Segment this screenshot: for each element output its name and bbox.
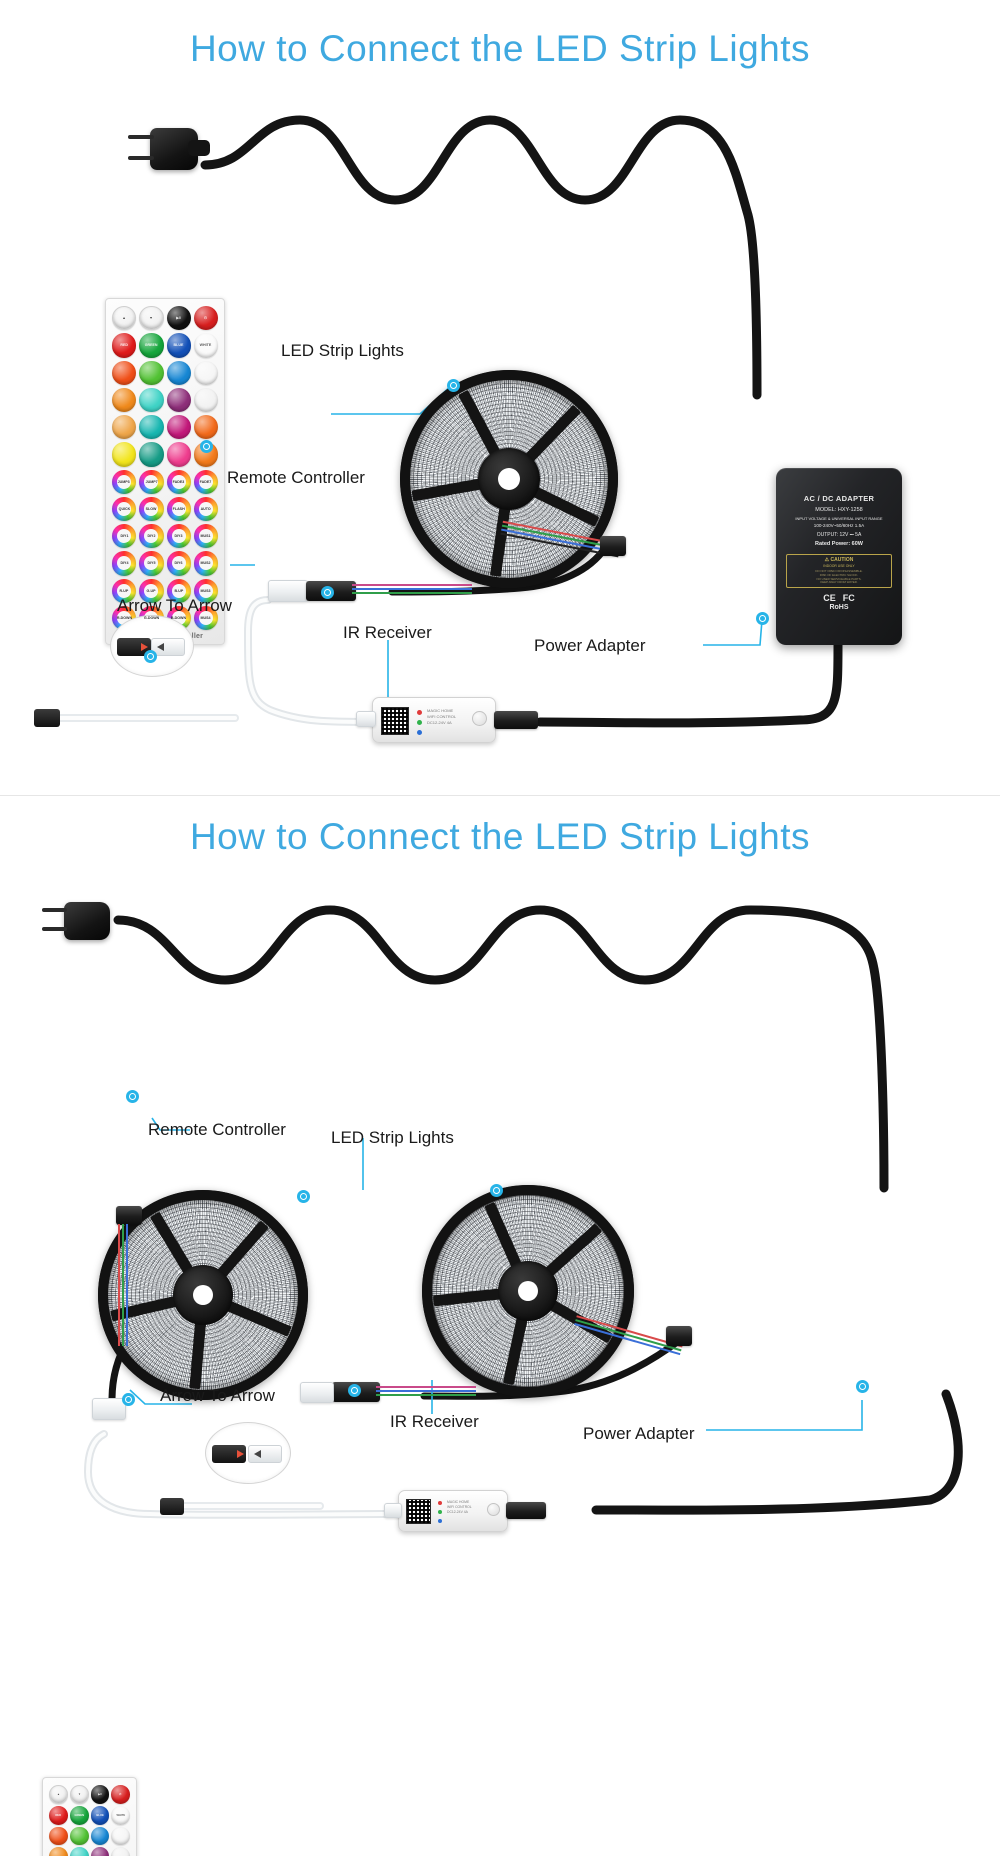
remote-button-label-29: SLOW [146,507,157,511]
remote-button-label-26: FADE3 [173,480,185,484]
callout-dot-remote-two [126,1090,139,1103]
remote-button-0[interactable]: ▲ [112,306,136,330]
adapter-input-value: 100-240V~50/60Hz 1.5A [776,523,902,529]
remote-button-35[interactable]: MUS1 [194,524,218,548]
adapter-model: MODEL: HXY-1258 [776,507,902,514]
arrow-to-arrow-inset-two [205,1422,291,1484]
label-led-strip-two: LED Strip Lights [331,1128,454,1148]
status-led-green [417,720,422,725]
remote-button-37[interactable]: DIY5 [139,551,163,575]
remote-button-7[interactable]: WHITE [194,333,218,357]
remote-button-label-43: MUS3 [201,589,211,593]
remote-button-12[interactable] [112,388,136,412]
remote-button-label-42: B-UP [174,589,183,593]
ac-plug-two [42,900,118,942]
remote-button-label-30: FLASH [173,507,185,511]
fcc-mark-icon: FC [843,593,855,603]
remote-button-13[interactable] [139,388,163,412]
callout-dot-adapter-one [756,612,769,625]
remote-button-label-2: ▶‖ [98,1793,101,1796]
remote-button-12[interactable] [49,1847,68,1856]
instruction-graphic: How to Connect the LED Strip Lights [0,0,1000,1856]
remote-button-label-0: ▲ [57,1793,60,1796]
power-button-icon-two[interactable] [487,1503,500,1516]
remote-button-label-41: G-UP [147,589,156,593]
remote-button-label-37: DIY5 [147,562,155,566]
rohs-mark-icon: RoHS [776,604,902,611]
status-led-green-two [438,1510,442,1514]
remote-button-34[interactable]: DIY3 [167,524,191,548]
power-button-icon[interactable] [472,711,487,726]
remote-button-14[interactable] [91,1847,110,1856]
connector-ribbon-two [376,1386,476,1398]
remote-button-20[interactable] [112,442,136,466]
callout-dot-remote-one [200,440,213,453]
callout-dot-led-strip-two-b [490,1184,503,1197]
remote-button-label-3: ⏻ [204,316,207,320]
callout-dot-led-strip-one [447,379,460,392]
remote-button-label-2: ▶‖ [176,316,181,320]
remote-button-25[interactable]: JUMP7 [139,470,163,494]
remote-button-label-31: AUTO [201,507,211,511]
callout-dot-ir-two [348,1384,361,1397]
remote-button-label-33: DIY2 [147,534,155,538]
remote-button-label-28: QUICK [118,507,130,511]
strip-connector-white-one [268,580,308,602]
adapter-output: OUTPUT: 12V ⎓ 5A [776,532,902,539]
power-adapter-one: AC / DC ADAPTER MODEL: HXY-1258 INPUT VO… [776,468,902,645]
remote-button-22[interactable] [167,442,191,466]
remote-button-5[interactable]: GREEN [70,1806,89,1825]
controller-input-connector-two [384,1503,402,1518]
connector-ribbon-one [352,584,472,598]
label-ir-one: IR Receiver [343,623,432,643]
label-remote-one: Remote Controller [227,468,365,488]
adapter-input-label: INPUT VOLTAGE & UNIVERSAL INPUT RANGE [776,516,902,521]
remote-button-label-25: JUMP7 [145,480,157,484]
remote-button-6[interactable]: BLUE [167,333,191,357]
label-ir-two: IR Receiver [390,1412,479,1432]
strip-connector-white-two [92,1398,126,1420]
remote-button-label-5: GREEN [145,344,158,348]
controller-input-connector-one [356,711,376,727]
callout-dot-arrow-one [144,650,157,663]
status-led-red [417,710,422,715]
remote-button-10[interactable] [91,1827,110,1846]
remote-button-label-3: ⏻ [120,1793,122,1796]
arrow-to-arrow-inset-one [110,615,194,677]
remote-button-8[interactable] [49,1827,68,1846]
remote-button-label-39: MUS2 [201,562,211,566]
remote-button-label-44: R-DOWN [117,616,132,620]
remote-button-label-1: ▼ [150,316,154,320]
remote-button-2[interactable]: ▶‖ [91,1785,110,1804]
remote-button-33[interactable]: DIY2 [139,524,163,548]
adapter-rated-power: Rated Power: 60W [776,541,902,548]
remote-button-28[interactable]: QUICK [112,497,136,521]
remote-button-39[interactable]: MUS2 [194,551,218,575]
remote-button-16[interactable] [112,415,136,439]
remote-button-label-47: MUS4 [201,616,211,620]
callout-dot-adapter-two [856,1380,869,1393]
remote-button-30[interactable]: FLASH [167,497,191,521]
adapter-certification-marks: CE FC [776,593,902,603]
remote-button-9[interactable] [139,361,163,385]
remote-button-24[interactable]: JUMP3 [112,470,136,494]
adapter-title: AC / DC ADAPTER [776,494,902,503]
remote-button-21[interactable] [139,442,163,466]
remote-button-5[interactable]: GREEN [139,333,163,357]
remote-button-9[interactable] [70,1827,89,1846]
adapter-caution-sub: INDOOR USE ONLY [789,564,889,568]
remote-button-11[interactable] [111,1827,130,1846]
label-adapter-one: Power Adapter [534,636,646,656]
remote-button-grid-two[interactable]: ▲▼▶‖⏻REDGREENBLUEWHITEJUMP3JUMP7FADE3FAD… [49,1785,130,1856]
remote-button-2[interactable]: ▶‖ [167,306,191,330]
remote-button-label-46: B-DOWN [171,616,186,620]
label-remote-two: Remote Controller [148,1120,286,1140]
remote-button-label-7: WHITE [116,1814,125,1817]
status-led-blue-two [438,1519,442,1523]
adapter-caution-body: DO NOT OPEN OR DISASSEMBLE. RISK OF ELEC… [789,570,889,585]
dc-barrel-plug-two [160,1498,184,1515]
remote-button-label-34: DIY3 [175,534,183,538]
remote-button-label-32: DIY1 [120,534,128,538]
remote-button-32[interactable]: DIY1 [112,524,136,548]
page-title-two: How to Connect the LED Strip Lights [0,816,1000,858]
remote-button-11[interactable] [194,361,218,385]
remote-button-36[interactable]: DIY4 [112,551,136,575]
remote-button-3[interactable]: ⏻ [194,306,218,330]
remote-button-10[interactable] [167,361,191,385]
label-led-strip-one: LED Strip Lights [281,341,404,361]
ce-mark-icon: CE [823,593,836,603]
remote-button-15[interactable] [194,388,218,412]
middle-connector-white-two [300,1382,334,1403]
status-led-blue [417,730,422,735]
controller-output-connector-one [494,711,538,729]
remote-button-6[interactable]: BLUE [91,1806,110,1825]
label-arrow-two: Arrow To Arrow [160,1386,275,1406]
diagram-panel-one: How to Connect the LED Strip Lights [0,0,1000,800]
adapter-caution-block: ⚠ CAUTION INDOOR USE ONLY DO NOT OPEN OR… [786,554,892,588]
remote-button-38[interactable]: DIY6 [167,551,191,575]
remote-button-3[interactable]: ⏻ [111,1785,130,1804]
remote-controller-one[interactable]: ▲▼▶‖⏻REDGREENBLUEWHITEJUMP3JUMP7FADE3FAD… [105,298,225,645]
controller-output-connector-two [506,1502,546,1519]
remote-button-1[interactable]: ▼ [139,306,163,330]
remote-button-14[interactable] [167,388,191,412]
reel-connector-two-a [116,1206,142,1225]
remote-button-label-6: BLUE [174,344,184,348]
page-title-one: How to Connect the LED Strip Lights [0,28,1000,70]
remote-button-4[interactable]: RED [112,333,136,357]
remote-button-label-0: ▲ [122,316,126,320]
remote-button-17[interactable] [139,415,163,439]
remote-button-label-4: RED [56,1814,62,1817]
reel-ribbon-wire-two-a [118,1224,130,1346]
remote-button-label-35: MUS1 [201,534,211,538]
reel-connector-one [600,536,626,556]
remote-button-8[interactable] [112,361,136,385]
callout-dot-arrow-two [122,1393,135,1406]
dc-barrel-plug-one [34,709,60,727]
remote-button-label-40: R-UP [120,589,129,593]
remote-button-label-27: FADE7 [200,480,212,484]
remote-button-27[interactable]: FADE7 [194,470,218,494]
diagram-panel-two: How to Connect the LED Strip Lights [0,800,1000,1856]
remote-controller-two[interactable]: ▲▼▶‖⏻REDGREENBLUEWHITEJUMP3JUMP7FADE3FAD… [42,1777,137,1856]
remote-button-label-45: G-DOWN [144,616,159,620]
qr-code-icon-two [406,1499,431,1524]
remote-button-label-6: BLUE [96,1814,103,1817]
ir-receiver-controller-two[interactable]: MAGIC HOMEWIFI CONTROLDC12-24V 4A [398,1490,508,1532]
callout-dot-led-strip-two-a [297,1190,310,1203]
remote-button-label-4: RED [120,344,128,348]
remote-button-grid-one[interactable]: ▲▼▶‖⏻REDGREENBLUEWHITEJUMP3JUMP7FADE3FAD… [112,306,218,630]
status-led-red-two [438,1501,442,1505]
panel-divider [0,795,1000,796]
remote-button-13[interactable] [70,1847,89,1856]
remote-button-31[interactable]: AUTO [194,497,218,521]
remote-button-label-36: DIY4 [120,562,128,566]
remote-button-label-7: WHITE [200,344,212,348]
remote-button-label-38: DIY6 [175,562,183,566]
led-strip-reel-two-b [422,1185,634,1397]
remote-button-label-1: ▼ [78,1793,81,1796]
remote-button-29[interactable]: SLOW [139,497,163,521]
remote-button-0[interactable]: ▲ [49,1785,68,1804]
remote-button-18[interactable] [167,415,191,439]
remote-button-4[interactable]: RED [49,1806,68,1825]
remote-button-label-5: GREEN [74,1814,84,1817]
ir-receiver-controller-one[interactable]: MAGIC HOMEWIFI CONTROLDC12-24V 4A [372,697,496,743]
qr-code-icon [381,707,409,735]
label-adapter-two: Power Adapter [583,1424,695,1444]
remote-button-26[interactable]: FADE3 [167,470,191,494]
remote-button-1[interactable]: ▼ [70,1785,89,1804]
reel-connector-two-b [666,1326,692,1346]
remote-button-15[interactable] [111,1847,130,1856]
remote-button-19[interactable] [194,415,218,439]
remote-button-label-24: JUMP3 [118,480,130,484]
callout-dot-ir-one [321,586,334,599]
ac-plug-one [128,126,206,172]
label-arrow-one: Arrow To Arrow [117,596,232,616]
remote-button-7[interactable]: WHITE [111,1806,130,1825]
